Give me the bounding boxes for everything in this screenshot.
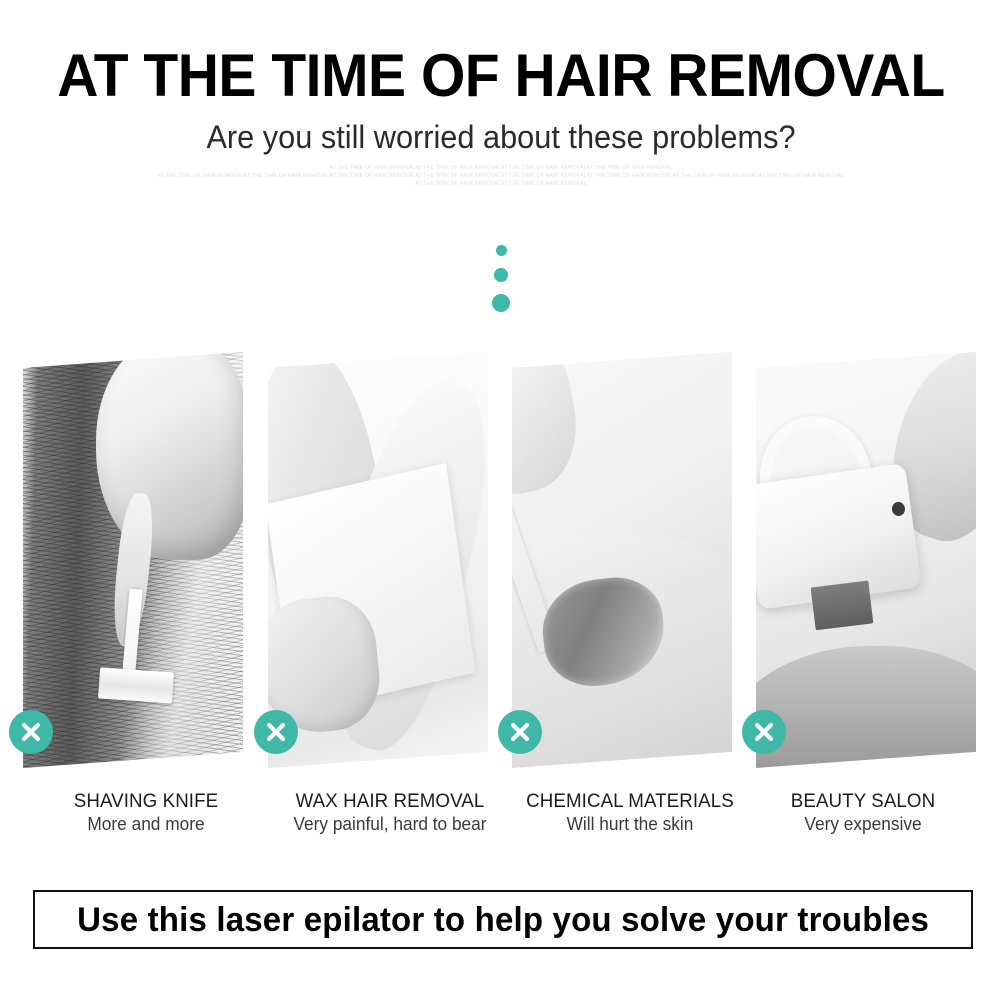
panel-photo-chemical [512, 352, 732, 768]
caption-chemical-materials: CHEMICAL MATERIALS Will hurt the skin [505, 790, 755, 836]
caption-title: SHAVING KNIFE [26, 790, 266, 813]
x-mark-icon [742, 710, 786, 754]
header-block: AT THE TIME OF HAIR REMOVAL Are you stil… [0, 0, 1002, 210]
x-mark-icon [498, 710, 542, 754]
solution-banner-text: Use this laser epilator to help you solv… [77, 901, 929, 939]
watermark-line: AT THE TIME OF HAIR REMOVALAT THE TIME O… [0, 180, 1002, 188]
x-mark-icon [254, 710, 298, 754]
handpiece-tip-shape [811, 581, 874, 631]
razor-head-shape [98, 668, 174, 704]
panel-photo-wax [268, 352, 488, 768]
caption-wax-hair-removal: WAX HAIR REMOVAL Very painful, hard to b… [265, 790, 515, 836]
page-subtitle: Are you still worried about these proble… [20, 118, 982, 156]
skin-shape [756, 646, 976, 768]
caption-title: WAX HAIR REMOVAL [270, 790, 510, 813]
problem-panel-strip [0, 368, 1002, 788]
caption-subtitle: More and more [26, 813, 266, 836]
caption-subtitle: Will hurt the skin [510, 813, 750, 836]
panel-photo-shaving [23, 352, 243, 768]
caption-subtitle: Very expensive [743, 813, 983, 836]
solution-banner: Use this laser epilator to help you solv… [33, 890, 973, 949]
teal-dot-icon [492, 294, 510, 312]
caption-subtitle: Very painful, hard to bear [270, 813, 510, 836]
watermark-line: AT THE TIME OF HAIR REMOVALAT THE TIME O… [0, 172, 1002, 180]
teal-dot-icon [494, 268, 508, 282]
caption-title: CHEMICAL MATERIALS [510, 790, 750, 813]
panel-photo-salon [756, 352, 976, 768]
caption-title: BEAUTY SALON [743, 790, 983, 813]
teal-dot-icon [496, 245, 507, 256]
photo-art [268, 352, 488, 768]
watermark-line: AT THE TIME OF HAIR REMOVALAT THE TIME O… [0, 164, 1002, 172]
x-mark-icon [9, 710, 53, 754]
caption-beauty-salon: BEAUTY SALON Very expensive [738, 790, 988, 836]
dot-separator [0, 245, 1002, 312]
problem-panel [268, 368, 488, 768]
hand-shape [512, 352, 590, 503]
caption-shaving-knife: SHAVING KNIFE More and more [21, 790, 271, 836]
panel-captions: SHAVING KNIFE More and more WAX HAIR REM… [0, 790, 1002, 850]
hair-removal-infographic: AT THE TIME OF HAIR REMOVAL Are you stil… [0, 0, 1002, 1002]
watermark-text: AT THE TIME OF HAIR REMOVALAT THE TIME O… [0, 164, 1002, 189]
photo-art [756, 352, 976, 768]
photo-art [512, 352, 732, 768]
hand-shape [96, 352, 243, 560]
problem-panel [23, 368, 243, 768]
problem-panel [512, 368, 732, 768]
problem-panel [756, 368, 976, 768]
photo-art [23, 352, 243, 768]
page-title: AT THE TIME OF HAIR REMOVAL [25, 44, 977, 108]
